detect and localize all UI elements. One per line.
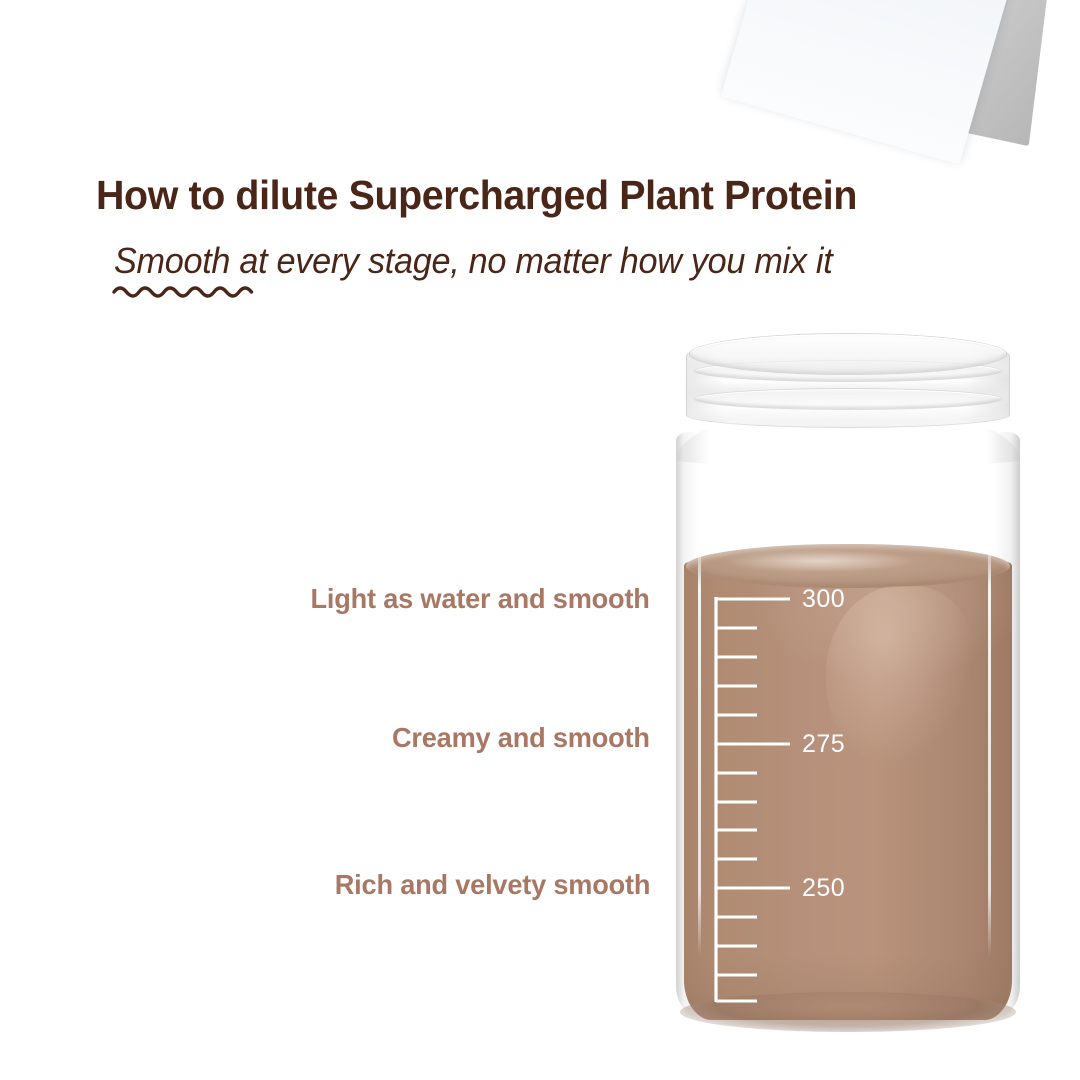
page-subtitle: Smooth at every stage, no matter how you…	[114, 240, 969, 282]
dilution-label-2: Rich and velvety smooth	[334, 869, 650, 901]
scale-value-275: 275	[802, 730, 845, 759]
wavy-underline-icon	[112, 281, 258, 301]
dilution-label-1: Creamy and smooth	[392, 722, 650, 754]
infographic-canvas: SUPERCHARGED PLANT Cure® #1 Taste-Tested…	[0, 0, 1080, 1080]
scale-value-300: 300	[802, 585, 845, 614]
dilution-label-0: Light as water and smooth	[311, 583, 650, 615]
product-photo: SUPERCHARGED PLANT Cure® #1 Taste-Tested…	[0, 0, 1080, 1080]
page-title: How to dilute Supercharged Plant Protein	[96, 172, 960, 219]
measurement-scale	[0, 0, 1080, 1080]
scale-value-250: 250	[802, 874, 845, 903]
